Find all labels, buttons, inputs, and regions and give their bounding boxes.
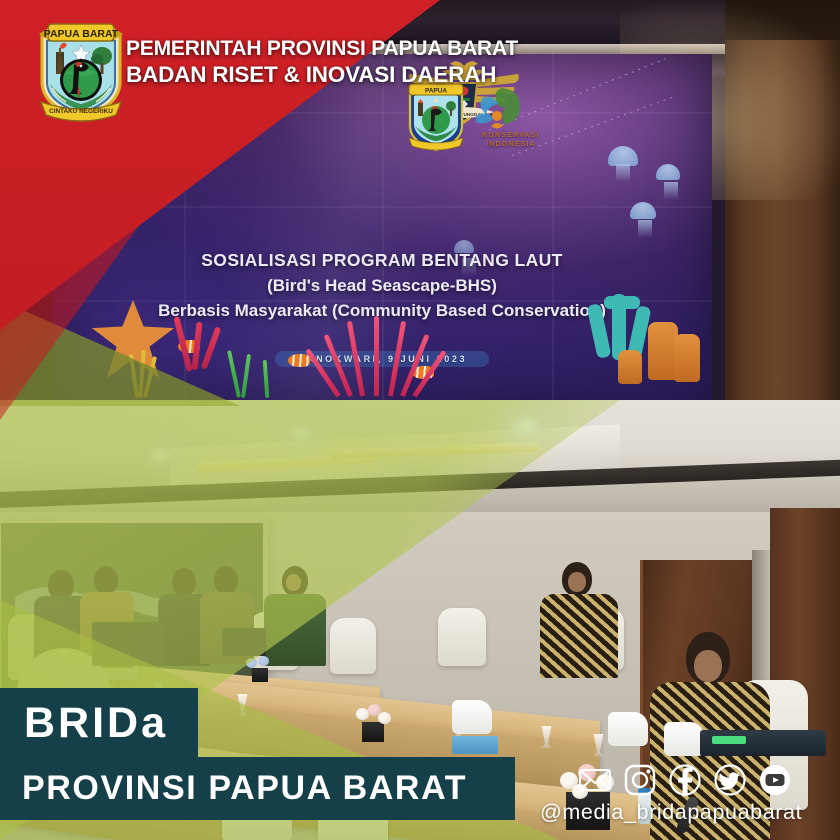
brand-subtitle-bar: PROVINSI PAPUA BARAT — [0, 757, 515, 820]
email-icon[interactable] — [578, 763, 612, 797]
chair — [438, 608, 486, 666]
banner-title-line2: (Bird's Head Seascape-BHS) — [52, 276, 712, 296]
laptop — [92, 622, 164, 666]
ceiling-spotlight — [288, 424, 314, 442]
brand-name-bar: BRIDa — [0, 688, 198, 758]
coral-icon — [604, 296, 640, 309]
laptop — [222, 628, 266, 656]
ceiling-spotlight — [508, 414, 542, 438]
sponge-icon — [618, 350, 642, 384]
facebook-icon[interactable] — [668, 763, 702, 797]
papua-barat-coat-of-arms-icon: PAPUA BARAT — [36, 18, 126, 122]
av-status-led — [712, 736, 746, 744]
ceiling-spotlight — [148, 446, 174, 464]
header-title-block: PEMERINTAH PROVINSI PAPUA BARAT BADAN RI… — [126, 36, 826, 88]
konservasi-indonesia-label: KONSERVASI INDONESIA — [456, 132, 566, 149]
ki-line2: INDONESIA — [456, 141, 566, 150]
ki-line1: KONSERVASI — [456, 132, 566, 141]
header-line1: PEMERINTAH PROVINSI PAPUA BARAT — [126, 36, 826, 61]
social-media-poster: SOSIALISASI PROGRAM BENTANG LAUT (Bird's… — [0, 0, 840, 840]
brand-name: BRIDa — [24, 701, 168, 745]
header-bar: PAPUA BARAT — [0, 0, 840, 118]
banner-title-line1: SOSIALISASI PROGRAM BENTANG LAUT — [52, 250, 712, 271]
social-icon-row — [578, 760, 828, 800]
header-line2: BADAN RISET & INOVASI DAERAH — [126, 61, 826, 88]
napkin — [452, 700, 492, 734]
brand-subtitle: PROVINSI PAPUA BARAT — [22, 770, 467, 806]
youtube-icon[interactable] — [758, 763, 792, 797]
emblem-top-label: PAPUA BARAT — [44, 28, 119, 40]
napkin — [608, 712, 648, 746]
napkin — [664, 722, 704, 756]
anemone-icon — [330, 316, 434, 396]
chair — [330, 618, 376, 674]
clownfish-icon — [288, 354, 310, 367]
sponge-icon — [674, 334, 700, 382]
tissue-box — [452, 736, 498, 754]
twitter-icon[interactable] — [713, 763, 747, 797]
instagram-icon[interactable] — [623, 763, 657, 797]
emblem-bottom-label: CINTAKU NEGERIKU — [49, 108, 113, 115]
social-handle: @media_bridapapuabarat — [540, 800, 840, 825]
